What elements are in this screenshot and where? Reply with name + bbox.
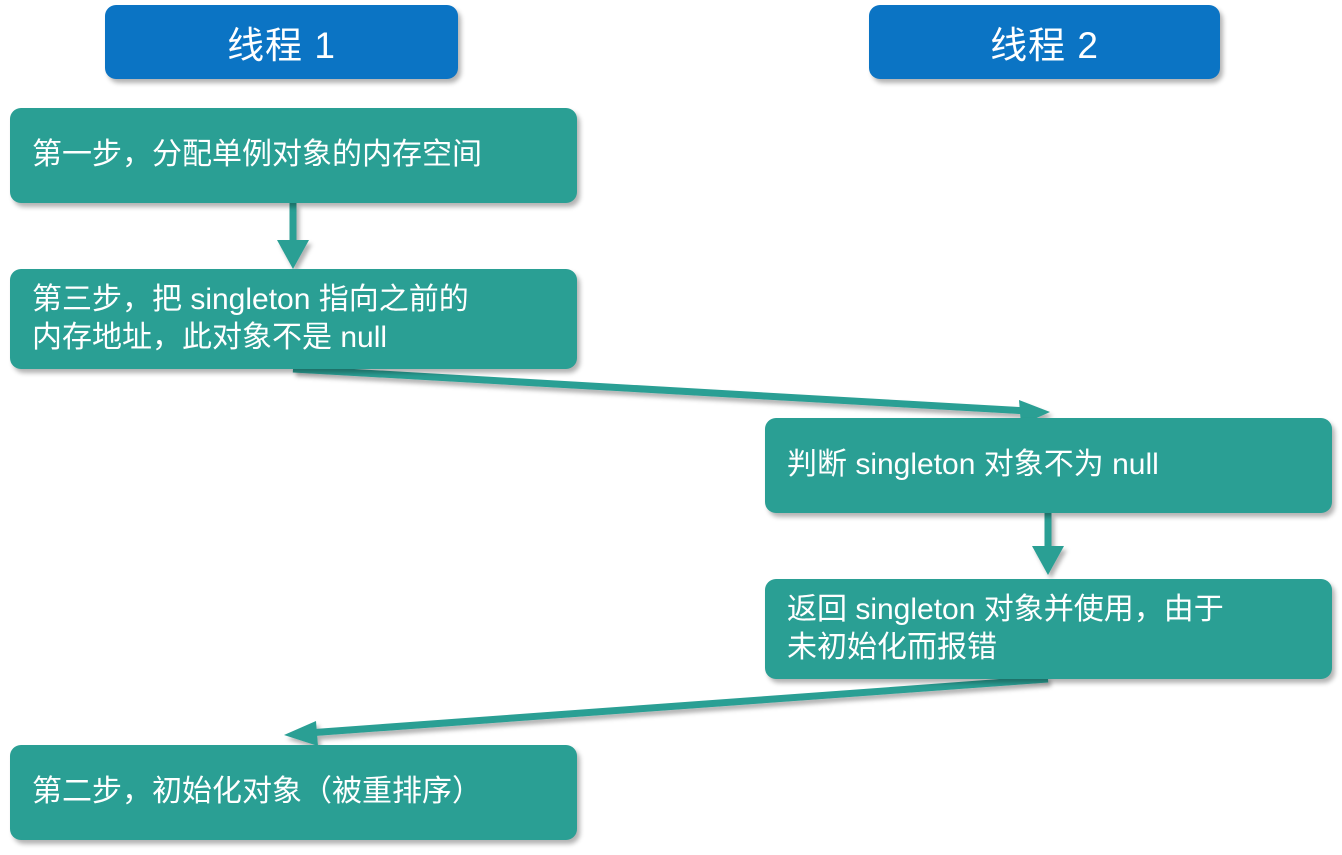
step-node-assign-reference-label: 第三步，把 singleton 指向之前的 内存地址，此对象不是 null	[10, 281, 577, 358]
step-node-allocate-memory-label: 第一步，分配单例对象的内存空间	[10, 136, 577, 174]
edge-ret-to-step2	[284, 679, 1048, 746]
step-node-assign-reference: 第三步，把 singleton 指向之前的 内存地址，此对象不是 null	[10, 269, 577, 369]
step-node-check-not-null: 判断 singleton 对象不为 null	[765, 418, 1332, 513]
step-node-initialize-object-label: 第二步，初始化对象（被重排序）	[10, 773, 577, 811]
thread1-header-label: 线程 1	[105, 15, 458, 69]
step-node-initialize-object: 第二步，初始化对象（被重排序）	[10, 745, 577, 840]
thread2-header: 线程 2	[869, 5, 1220, 79]
thread2-header-label: 线程 2	[869, 15, 1220, 69]
step-node-return-and-use-label: 返回 singleton 对象并使用，由于 未初始化而报错	[765, 591, 1332, 668]
edge-check-to-ret	[1032, 513, 1064, 575]
step-node-check-not-null-label: 判断 singleton 对象不为 null	[765, 446, 1332, 484]
thread1-header: 线程 1	[105, 5, 458, 79]
edge-step3-to-check	[293, 369, 1050, 425]
step-node-allocate-memory: 第一步，分配单例对象的内存空间	[10, 108, 577, 203]
edge-step1-to-step3	[277, 203, 309, 269]
step-node-return-and-use: 返回 singleton 对象并使用，由于 未初始化而报错	[765, 579, 1332, 679]
diagram-canvas: 线程 1 线程 2 第一步，分配单例对象的内存空间 第三步，把 singleto…	[0, 0, 1342, 855]
